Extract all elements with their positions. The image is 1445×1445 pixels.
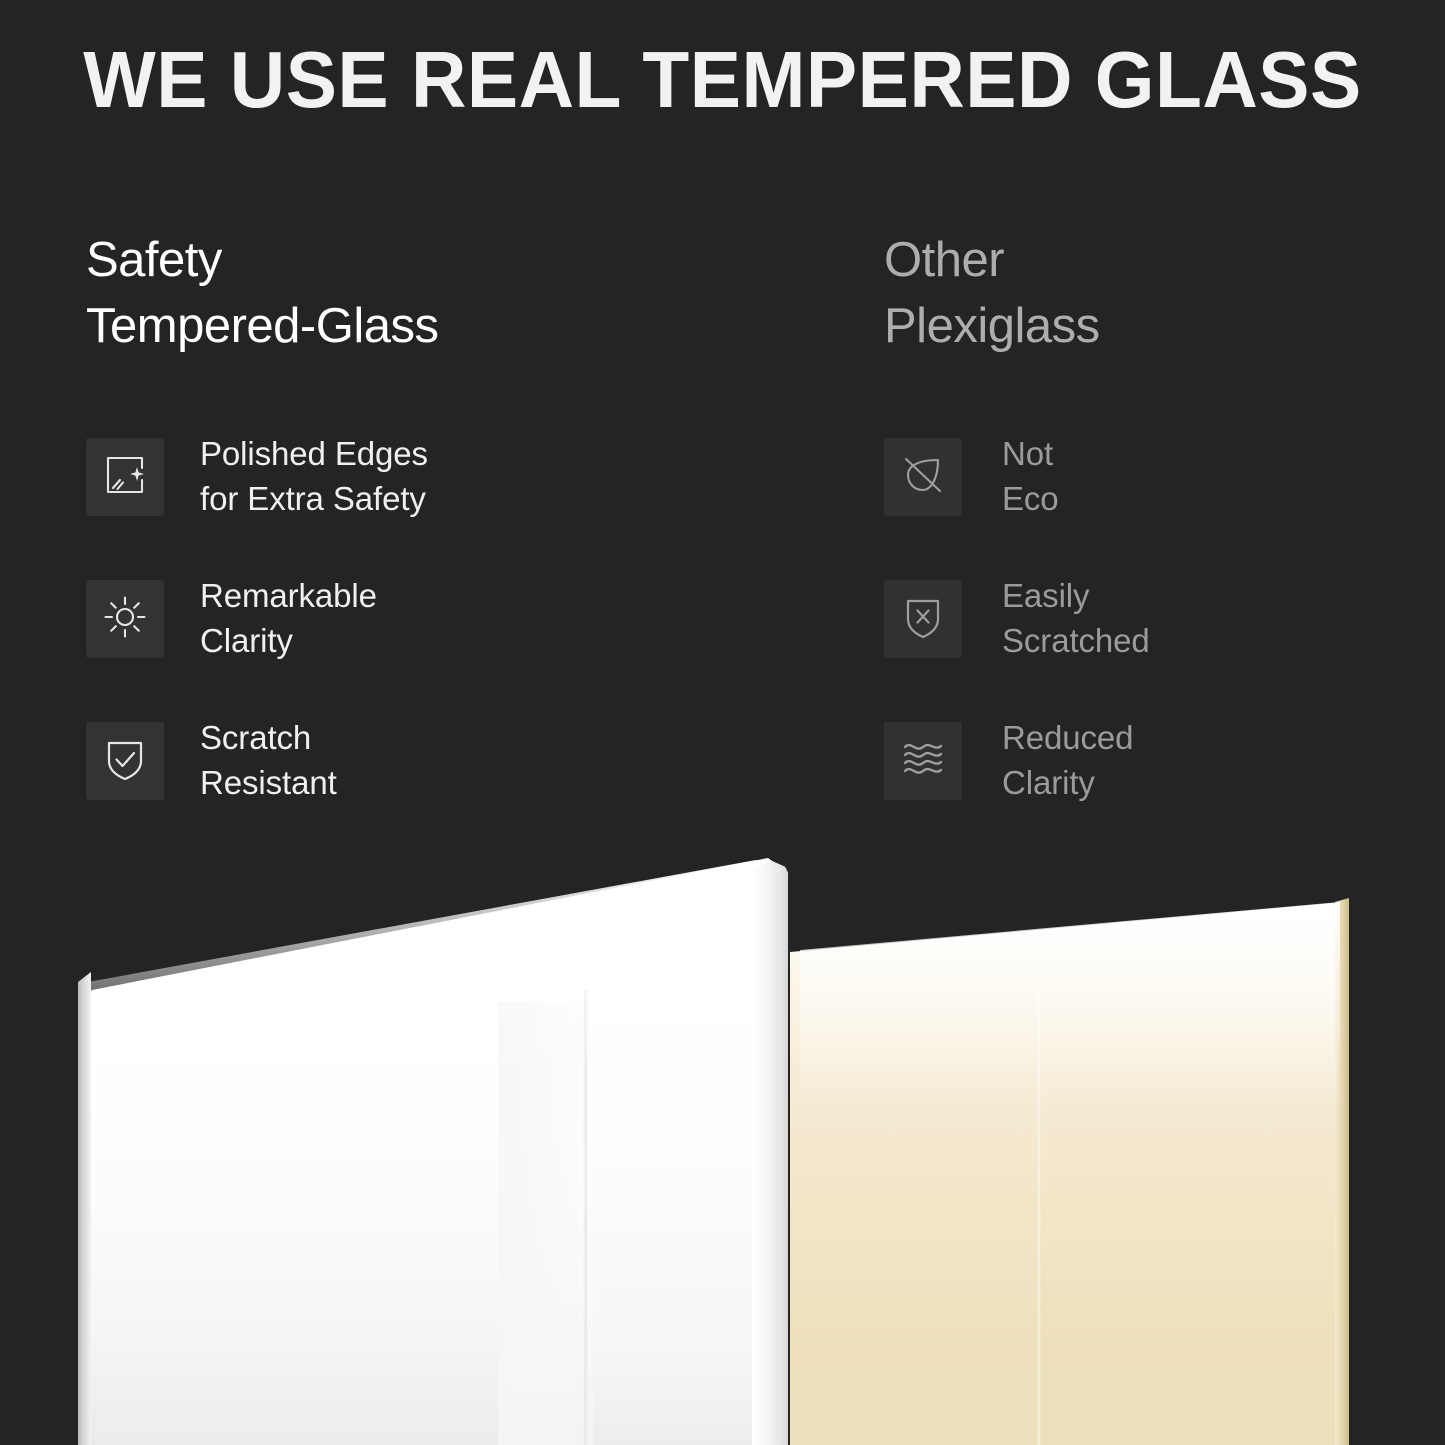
icon-tile-polished-edges bbox=[86, 438, 164, 516]
column-title-safety: Safety Tempered-Glass bbox=[86, 228, 846, 359]
infographic-root: WE USE REAL TEMPERED GLASS Safety Temper… bbox=[0, 0, 1445, 1445]
column-safety-tempered-glass: Safety Tempered-Glass bbox=[86, 228, 846, 853]
icon-tile-easily-scratched bbox=[884, 580, 962, 658]
icon-tile-remarkable-clarity bbox=[86, 580, 164, 658]
feature-label-reduced-clarity: Reduced Clarity bbox=[1002, 716, 1133, 806]
feature-scratch-resistant: Scratch Resistant bbox=[86, 711, 846, 811]
icon-tile-scratch-resistant bbox=[86, 722, 164, 800]
tempered-glass-panel bbox=[78, 858, 788, 1445]
feature-label-not-eco: Not Eco bbox=[1002, 432, 1059, 522]
shield-x-icon bbox=[900, 594, 946, 645]
tempered-glass-panel-polished-edge-left bbox=[78, 972, 91, 1445]
shield-check-icon bbox=[102, 736, 148, 787]
plexiglass-panel bbox=[790, 902, 1348, 1445]
feature-remarkable-clarity: Remarkable Clarity bbox=[86, 569, 846, 669]
feature-polished-edges: Polished Edges for Extra Safety bbox=[86, 427, 846, 527]
polished-glass-pane-sparkle-icon bbox=[102, 452, 148, 503]
feature-label-scratch-resistant: Scratch Resistant bbox=[200, 716, 337, 806]
column-title-plexiglass: Other Plexiglass bbox=[884, 228, 1424, 359]
feature-label-easily-scratched: Easily Scratched bbox=[1002, 574, 1150, 664]
sun-brightness-icon bbox=[102, 594, 148, 645]
feature-list-safety: Polished Edges for Extra Safety bbox=[86, 427, 846, 811]
icon-tile-not-eco bbox=[884, 438, 962, 516]
plexiglass-panel-edge bbox=[1335, 898, 1349, 1445]
wavy-lines-icon bbox=[900, 736, 946, 787]
feature-label-polished-edges: Polished Edges for Extra Safety bbox=[200, 432, 428, 522]
leaf-crossed-out-icon bbox=[900, 452, 946, 503]
feature-easily-scratched: Easily Scratched bbox=[884, 569, 1424, 669]
column-other-plexiglass: Other Plexiglass Not Eco bbox=[884, 228, 1424, 853]
comparison-columns: Safety Tempered-Glass bbox=[0, 228, 1445, 828]
tempered-glass-panel-polished-edge-right bbox=[752, 860, 788, 1445]
feature-label-remarkable-clarity: Remarkable Clarity bbox=[200, 574, 377, 664]
product-photo bbox=[0, 840, 1445, 1445]
feature-list-plexiglass: Not Eco Easily Scratched bbox=[884, 427, 1424, 811]
feature-reduced-clarity: Reduced Clarity bbox=[884, 711, 1424, 811]
feature-not-eco: Not Eco bbox=[884, 427, 1424, 527]
page-title: WE USE REAL TEMPERED GLASS bbox=[29, 40, 1416, 120]
icon-tile-reduced-clarity bbox=[884, 722, 962, 800]
